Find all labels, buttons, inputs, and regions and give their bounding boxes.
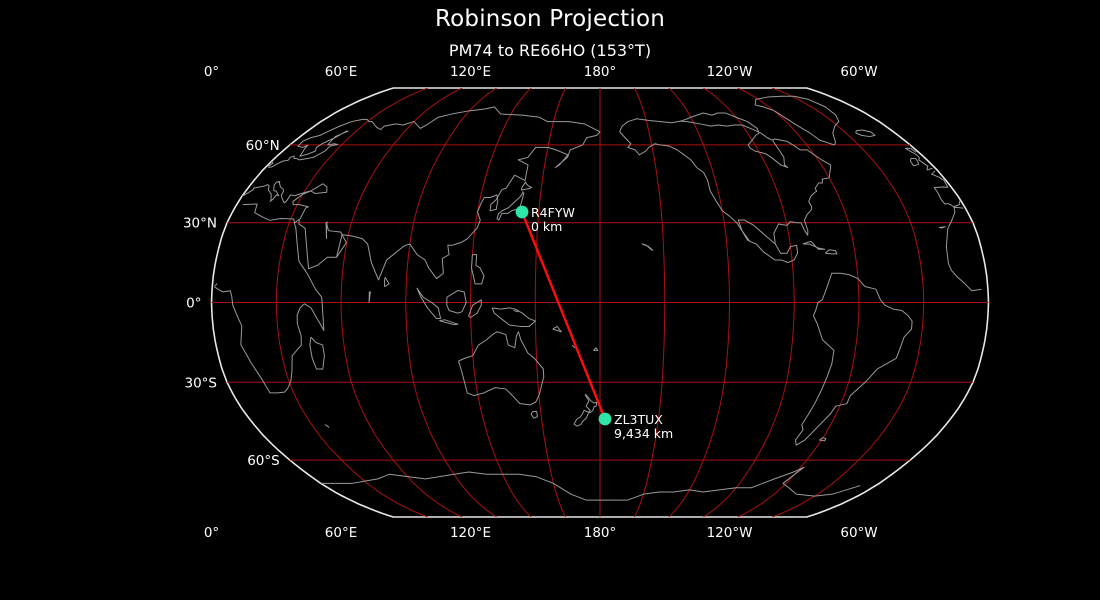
lon-tick-top-4: 120°W — [707, 64, 753, 80]
marker-origin-label: R4FYW — [531, 205, 575, 220]
marker-destination[interactable] — [599, 413, 612, 426]
lat-tick-0: 60°N — [246, 138, 280, 154]
longitude-ticks-bottom: 0°60°E120°E180°120°W60°W — [204, 525, 878, 541]
marker-destination-distance: 9,434 km — [614, 426, 673, 441]
map-figure: Robinson Projection PM74 to RE66HO (153°… — [0, 0, 1100, 600]
lat-tick-2: 0° — [186, 296, 201, 312]
lon-tick-top-2: 120°E — [450, 64, 491, 80]
lon-tick-top-3: 180° — [584, 64, 617, 80]
longitude-ticks-top: 0°60°E120°E180°120°W60°W — [204, 64, 878, 80]
lon-tick-bottom-4: 120°W — [707, 525, 753, 541]
lon-tick-bottom-2: 120°E — [450, 525, 491, 541]
lon-tick-top-0: 0° — [204, 64, 219, 80]
lon-tick-top-1: 60°E — [325, 64, 357, 80]
lat-tick-4: 60°S — [247, 453, 280, 469]
marker-origin-distance: 0 km — [531, 219, 562, 234]
marker-destination-label: ZL3TUX — [614, 412, 663, 427]
world-map: R4FYW 0 km ZL3TUX 9,434 km 0°60°E120°E18… — [0, 0, 1100, 600]
lat-tick-1: 30°N — [183, 216, 217, 232]
lon-tick-bottom-1: 60°E — [325, 525, 357, 541]
lon-tick-bottom-0: 0° — [204, 525, 219, 541]
lon-tick-bottom-3: 180° — [584, 525, 617, 541]
lat-tick-3: 30°S — [185, 375, 218, 391]
lon-tick-top-5: 60°W — [840, 64, 877, 80]
marker-origin[interactable] — [516, 206, 529, 219]
lon-tick-bottom-5: 60°W — [840, 525, 877, 541]
